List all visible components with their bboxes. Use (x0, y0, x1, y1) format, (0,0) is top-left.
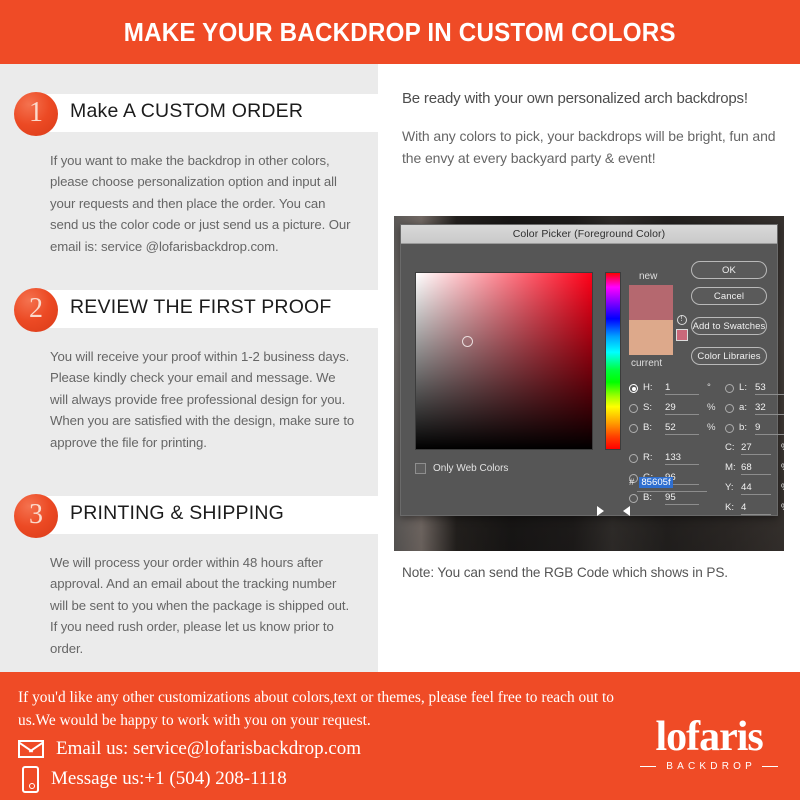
current-swatch-label: current (631, 358, 662, 369)
unit-s: % (707, 402, 716, 413)
note-text: Note: You can send the RGB Code which sh… (402, 565, 728, 580)
color-picker-titlebar: Color Picker (Foreground Color) (401, 225, 777, 244)
cancel-button[interactable]: Cancel (691, 287, 767, 305)
new-swatch-label: new (639, 271, 657, 282)
new-color-swatch[interactable] (629, 285, 673, 320)
step-block-3: 3 PRINTING & SHIPPING We will process yo… (0, 494, 378, 659)
poster-root: MAKE YOUR BACKDROP IN CUSTOM COLORS 1 Ma… (0, 0, 800, 800)
color-libraries-button[interactable]: Color Libraries (691, 347, 767, 365)
saturation-brightness-field[interactable] (415, 272, 593, 450)
hex-symbol: # (629, 477, 634, 488)
add-to-swatches-button[interactable]: Add to Swatches (691, 317, 767, 335)
logo-subline: BACKDROP (640, 761, 778, 772)
step-body-3: We will process your order within 48 hou… (0, 538, 378, 659)
value-s[interactable]: 29 (665, 402, 699, 415)
field-row-h: H: 1 ° L: 53 (629, 380, 769, 400)
radio-s[interactable] (629, 404, 638, 413)
message-text: Message us:+1 (504) 208-1118 (51, 768, 287, 790)
hex-field[interactable]: # 85605f (629, 477, 673, 488)
step-body-2: You will receive your proof within 1-2 b… (0, 332, 378, 453)
field-row-s: S: 29 % a: 32 (629, 400, 769, 420)
only-web-colors-option[interactable]: Only Web Colors (415, 463, 508, 474)
label-lab-a: a: (739, 402, 747, 413)
steps-column: 1 Make A CUSTOM ORDER If you want to mak… (0, 64, 378, 672)
field-row-b-bright: B: 52 % b: 9 (629, 420, 769, 440)
label-b-bright: B: (643, 422, 652, 433)
cmyk-c-field[interactable]: C: 27 % (725, 440, 784, 460)
unit-h: ° (707, 382, 711, 393)
logo-rule-left-icon (640, 766, 656, 767)
value-lab-b[interactable]: 9 (755, 422, 784, 435)
brand-logo: lofaris BACKDROP (640, 718, 778, 772)
hex-value[interactable]: 85605f (639, 477, 672, 488)
envelope-icon (18, 740, 44, 758)
value-h[interactable]: 1 (665, 382, 699, 395)
unit-c: % (781, 442, 784, 453)
page-header: MAKE YOUR BACKDROP IN CUSTOM COLORS (0, 0, 800, 64)
hue-slider[interactable] (605, 272, 621, 450)
footer-message: If you'd like any other customizations a… (18, 686, 618, 732)
radio-b-bright[interactable] (629, 424, 638, 433)
step-header-2: 2 REVIEW THE FIRST PROOF (0, 288, 378, 332)
value-lab-l[interactable]: 53 (755, 382, 784, 395)
cmyk-k-field[interactable]: K: 4 % (725, 500, 784, 520)
current-color-swatch[interactable] (629, 320, 673, 355)
step-title-1: Make A CUSTOM ORDER (70, 100, 303, 123)
step-number-3: 3 (29, 501, 43, 531)
step-body-text-2: You will receive your proof within 1-2 b… (50, 346, 356, 453)
label-m: M: (725, 462, 736, 473)
step-header-3: 3 PRINTING & SHIPPING (0, 494, 378, 538)
step-number-1: 1 (29, 99, 43, 129)
value-y[interactable]: 44 (741, 482, 771, 495)
hue-slider-handle-left-icon[interactable] (597, 506, 604, 516)
out-of-gamut-warning-icon[interactable] (677, 315, 687, 325)
unit-m: % (781, 462, 784, 473)
value-lab-a[interactable]: 32 (755, 402, 784, 415)
intro-lead-text: Be ready with your own personalized arch… (402, 88, 778, 109)
mobile-phone-icon (22, 766, 39, 793)
value-b-bright[interactable]: 52 (665, 422, 699, 435)
intro-sub-text: With any colors to pick, your backdrops … (402, 125, 778, 169)
email-text: Email us: service@lofarisbackdrop.com (56, 738, 361, 760)
message-contact-row[interactable]: Message us:+1 (504) 208-1118 (18, 764, 361, 794)
label-b-blue: B: (643, 492, 652, 503)
step-header-1: 1 Make A CUSTOM ORDER (0, 92, 378, 136)
label-s: S: (643, 402, 652, 413)
value-k[interactable]: 4 (741, 502, 771, 515)
logo-sub-text: BACKDROP (662, 761, 756, 772)
value-m[interactable]: 68 (741, 462, 771, 475)
only-web-colors-checkbox[interactable] (415, 463, 426, 474)
color-field-marker-icon[interactable] (462, 336, 473, 347)
radio-b-blue[interactable] (629, 494, 638, 503)
non-web-safe-warning-icon[interactable] (676, 329, 688, 341)
email-contact-row[interactable]: Email us: service@lofarisbackdrop.com (18, 734, 361, 764)
cmyk-y-field[interactable]: Y: 44 % (725, 480, 784, 500)
page-title: MAKE YOUR BACKDROP IN CUSTOM COLORS (124, 17, 676, 48)
value-b-blue[interactable]: 95 (665, 492, 699, 505)
label-lab-b: b: (739, 422, 747, 433)
label-c: C: (725, 442, 735, 453)
step-title-3: PRINTING & SHIPPING (70, 502, 284, 525)
only-web-colors-label: Only Web Colors (433, 463, 508, 474)
color-picker-dialog: Color Picker (Foreground Color) Only Web… (400, 224, 778, 516)
ok-button[interactable]: OK (691, 261, 767, 279)
step-number-badge-3: 3 (14, 494, 58, 538)
step-number-2: 2 (29, 295, 43, 325)
logo-wordmark: lofaris (640, 718, 778, 758)
step-block-2: 2 REVIEW THE FIRST PROOF You will receiv… (0, 288, 378, 453)
label-lab-l: L: (739, 382, 747, 393)
footer-contacts: Email us: service@lofarisbackdrop.com Me… (18, 734, 361, 794)
logo-rule-right-icon (762, 766, 778, 767)
step-block-1: 1 Make A CUSTOM ORDER If you want to mak… (0, 92, 378, 257)
color-picker-title: Color Picker (Foreground Color) (513, 228, 665, 240)
cmyk-m-field[interactable]: M: 68 % (725, 460, 784, 480)
intro-block: Be ready with your own personalized arch… (402, 88, 778, 169)
value-r[interactable]: 133 (665, 452, 699, 465)
step-number-badge-1: 1 (14, 92, 58, 136)
label-k: K: (725, 502, 734, 513)
radio-h[interactable] (629, 384, 638, 393)
step-body-1: If you want to make the backdrop in othe… (0, 136, 378, 257)
unit-b-bright: % (707, 422, 716, 433)
step-body-text-1: If you want to make the backdrop in othe… (50, 150, 356, 257)
value-c[interactable]: 27 (741, 442, 771, 455)
label-h: H: (643, 382, 653, 393)
label-y: Y: (725, 482, 734, 493)
info-column: Be ready with your own personalized arch… (378, 64, 800, 672)
unit-y: % (781, 482, 784, 493)
radio-lab-l[interactable] (725, 384, 734, 393)
step-number-badge-2: 2 (14, 288, 58, 332)
radio-lab-b[interactable] (725, 424, 734, 433)
cmyk-field-group: C: 27 % M: 68 % Y: 44 % K: (725, 440, 784, 520)
step-body-text-3: We will process your order within 48 hou… (50, 552, 356, 659)
step-title-2: REVIEW THE FIRST PROOF (70, 296, 332, 319)
radio-r[interactable] (629, 454, 638, 463)
hex-field-underline (637, 491, 707, 492)
photoshop-screenshot: Color Picker (Foreground Color) Only Web… (394, 216, 784, 551)
radio-lab-a[interactable] (725, 404, 734, 413)
label-r: R: (643, 452, 653, 463)
unit-k: % (781, 502, 784, 513)
